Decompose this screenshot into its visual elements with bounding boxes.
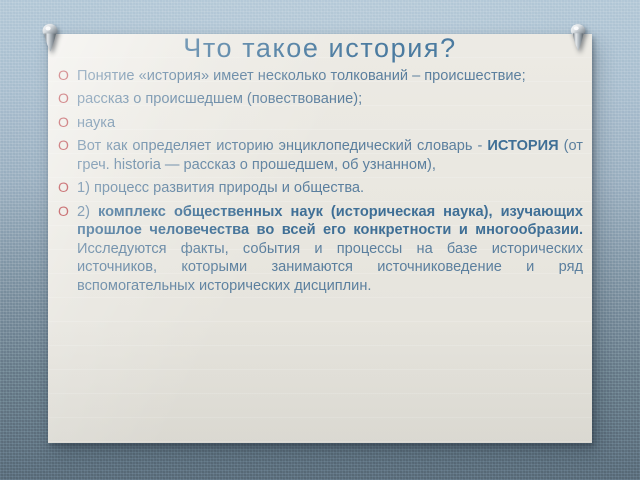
card-body: Что такое история? OПонятие «история» им… xyxy=(48,34,592,443)
list-item-text: 2) комплекс общественных наук (историчес… xyxy=(77,203,583,295)
bullet-marker-icon: O xyxy=(58,90,69,108)
emphasized-text: ИСТОРИЯ xyxy=(487,138,558,154)
pushpin-icon-left xyxy=(38,22,62,56)
plain-text: 2) xyxy=(77,204,98,220)
list-item: O наука xyxy=(55,114,583,132)
bullet-marker-icon: O xyxy=(58,137,69,155)
pinned-content-card: Что такое история? OПонятие «история» им… xyxy=(48,34,592,443)
list-item-text: наука xyxy=(77,114,583,132)
list-item: O рассказ о происшедшем (повествование); xyxy=(55,90,583,108)
bullet-marker-icon: O xyxy=(58,67,69,85)
bullet-marker-icon: O xyxy=(58,179,69,197)
bullet-marker-icon: O xyxy=(58,203,69,221)
list-item: O2) комплекс общественных наук (историче… xyxy=(55,203,583,295)
plain-text: Исследуются факты, события и процессы на… xyxy=(77,241,583,294)
bullet-marker-icon: O xyxy=(58,114,69,132)
list-item: O1) процесс развития природы и общества. xyxy=(55,179,583,197)
list-item: OВот как определяет историю энциклопедич… xyxy=(55,137,583,174)
page-title: Что такое история? xyxy=(48,34,592,64)
plain-text: Вот как определяет историю энциклопедиче… xyxy=(77,138,487,154)
list-item-text: рассказ о происшедшем (повествование); xyxy=(77,90,583,108)
list-item-text: Понятие «история» имеет несколько толков… xyxy=(77,67,583,85)
list-item: OПонятие «история» имеет несколько толко… xyxy=(55,67,583,85)
bullet-list: OПонятие «история» имеет несколько толко… xyxy=(55,67,583,295)
pushpin-icon-right xyxy=(566,22,590,56)
emphasized-text: комплекс общественных наук (историческая… xyxy=(77,204,583,238)
list-item-text: 1) процесс развития природы и общества. xyxy=(77,179,583,197)
list-item-text: Вот как определяет историю энциклопедиче… xyxy=(77,137,583,174)
